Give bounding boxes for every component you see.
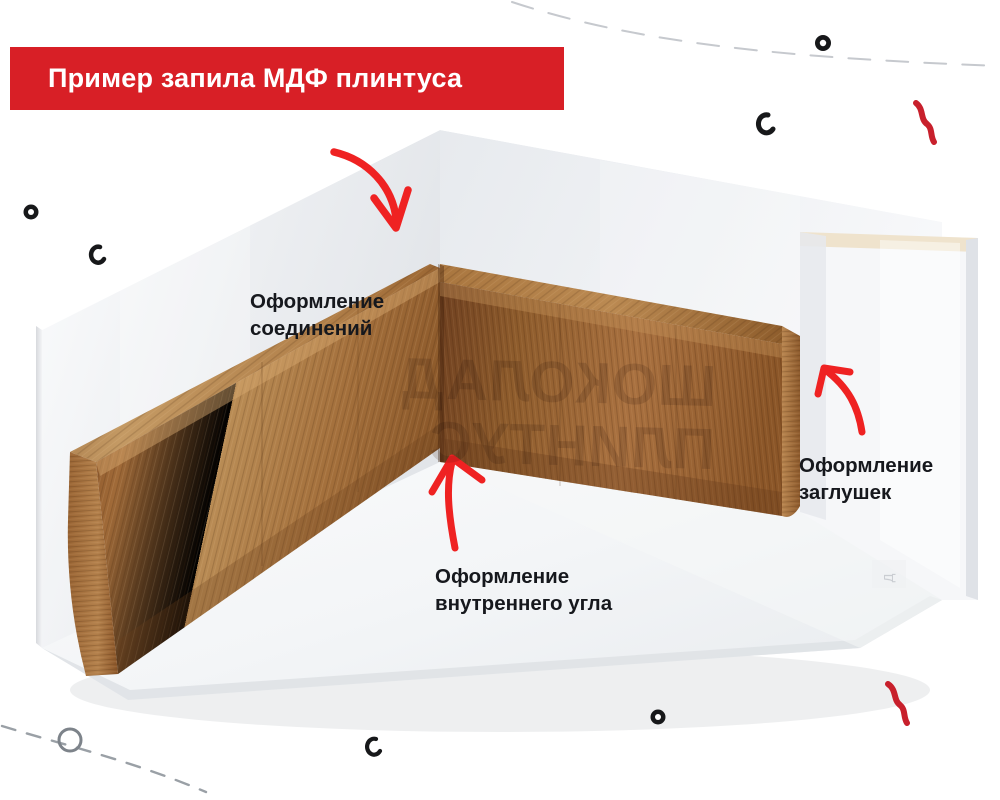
skirting-corner-scene: Д bbox=[0, 0, 1000, 800]
printed-mark: Д bbox=[872, 560, 906, 588]
title-banner: Пример запила МДФ плинтуса bbox=[10, 47, 564, 110]
label-inner-corner-line-1: Оформление bbox=[435, 563, 612, 590]
deco-ring-top-right-icon bbox=[815, 35, 831, 51]
deco-arc-top-right-icon bbox=[758, 115, 773, 133]
deco-squiggle-top-right-icon bbox=[916, 103, 934, 142]
deco-dashed-curve-top-icon bbox=[512, 2, 1000, 66]
label-inner-corner-line-2: внутреннего угла bbox=[435, 590, 612, 617]
deco-arc-bottom-icon bbox=[367, 739, 380, 755]
label-end-caps: Оформление заглушек bbox=[799, 452, 933, 506]
label-inner-corner: Оформление внутреннего угла bbox=[435, 563, 612, 617]
illustration-canvas: Д bbox=[0, 0, 1000, 800]
label-joints-line-1: Оформление bbox=[250, 288, 384, 315]
deco-arc-left-icon bbox=[91, 247, 104, 263]
banner-title: Пример запила МДФ плинтуса bbox=[48, 65, 462, 92]
label-joints-line-2: соединений bbox=[250, 315, 384, 342]
label-end-caps-line-1: Оформление bbox=[799, 452, 933, 479]
label-end-caps-line-2: заглушек bbox=[799, 479, 933, 506]
label-joints: Оформление соединений bbox=[250, 288, 384, 342]
svg-text:Д: Д bbox=[881, 573, 896, 582]
deco-ring-bottom-icon bbox=[651, 710, 666, 725]
deco-dashed-curve-bottom-icon bbox=[2, 726, 206, 792]
deco-ring-left-icon bbox=[24, 205, 39, 220]
